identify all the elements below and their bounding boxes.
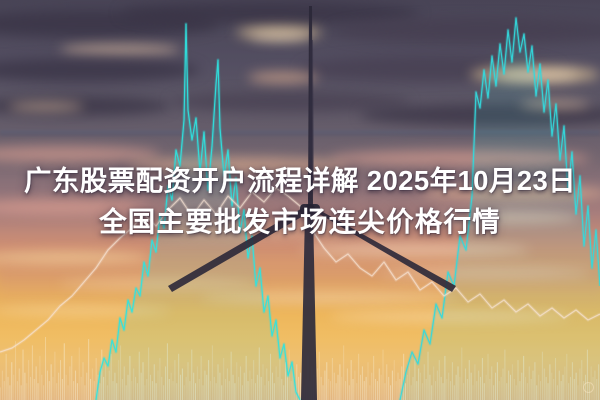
caption-block: 广东股票配资开户流程详解 2025年10月23日 全国主要批发市场连尖价格行情 (0, 160, 600, 242)
caption-line-2: 全国主要批发市场连尖价格行情 (0, 201, 600, 242)
watermark-dot-icon (583, 382, 594, 393)
banner-image: 广东股票配资开户流程详解 2025年10月23日 全国主要批发市场连尖价格行情 (0, 0, 600, 400)
caption-line-1: 广东股票配资开户流程详解 2025年10月23日 (0, 160, 600, 201)
